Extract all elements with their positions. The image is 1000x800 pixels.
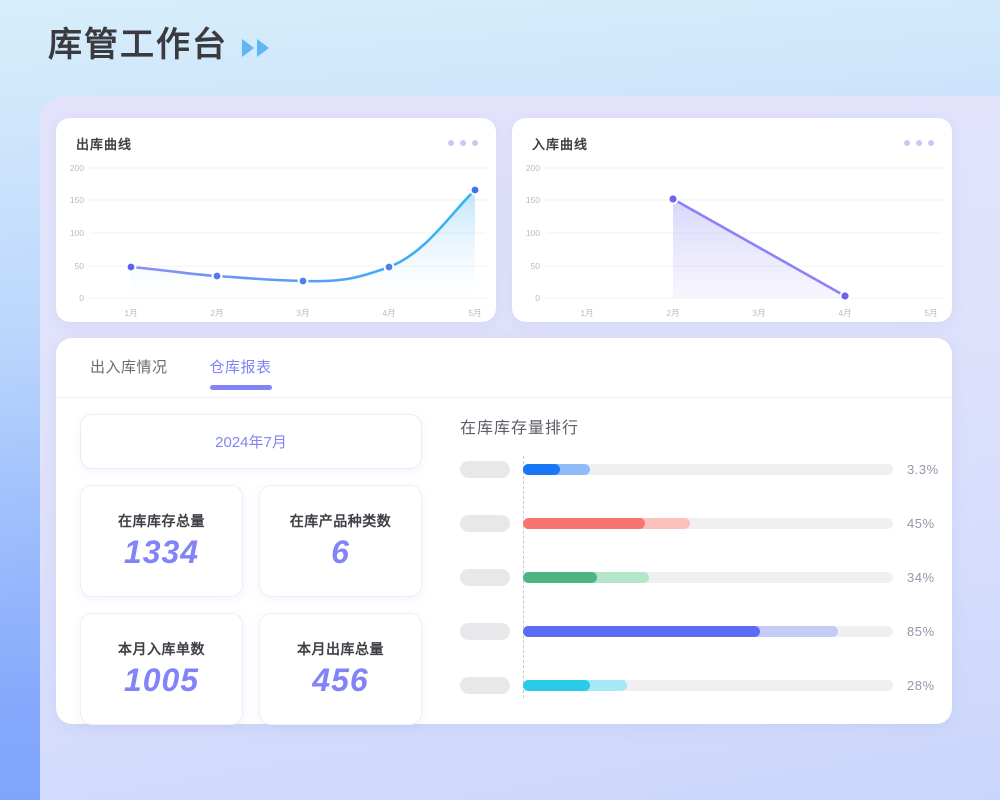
ranking-row[interactable]: 3.3% — [460, 460, 930, 478]
stat-card-outbound-total: 本月出库总量 456 — [259, 613, 422, 725]
ranking-bar-track — [523, 572, 893, 583]
ranking-percent: 34% — [907, 570, 935, 585]
ranking-row[interactable]: 85% — [460, 622, 930, 640]
svg-text:200: 200 — [526, 163, 540, 173]
ranking-bar-fill — [523, 680, 590, 691]
ranking-bar-fill — [523, 626, 760, 637]
ranking-row[interactable]: 28% — [460, 676, 930, 694]
outbound-chart-card: 出库曲线 — [56, 118, 496, 322]
outbound-chart-plot: 200 150 100 50 0 1月 2月 3月 — [56, 158, 496, 322]
stat-label: 本月入库单数 — [118, 639, 205, 659]
inbound-chart-title: 入库曲线 — [532, 134, 588, 153]
page-header: 库管工作台 — [48, 28, 269, 62]
tab-warehouse-report[interactable]: 仓库报表 — [210, 347, 272, 389]
ranking-percent: 45% — [907, 516, 935, 531]
svg-text:150: 150 — [526, 195, 540, 205]
svg-text:3月: 3月 — [296, 308, 309, 318]
svg-text:2月: 2月 — [210, 308, 223, 318]
more-dots-icon[interactable] — [448, 140, 478, 146]
inbound-chart-card: 入库曲线 200 150 100 — [512, 118, 952, 322]
app-shell: 出库曲线 — [40, 96, 1000, 800]
svg-text:50: 50 — [531, 261, 541, 271]
stat-label: 本月出库总量 — [297, 639, 384, 659]
svg-text:1月: 1月 — [580, 308, 593, 318]
stats-column: 2024年7月 在库库存总量 1334 在库产品种类数 6 本月入库单数 100… — [80, 414, 422, 725]
ranking-column: 在库库存量排行 3.3% 45% — [460, 414, 930, 694]
ranking-row-label — [460, 569, 510, 586]
stat-label: 在库库存总量 — [118, 511, 205, 531]
stat-card-product-types: 在库产品种类数 6 — [259, 485, 422, 597]
ranking-bar-fill — [523, 518, 645, 529]
ranking-bar-track — [523, 680, 893, 691]
ranking-row-label — [460, 515, 510, 532]
page-title: 库管工作台 — [48, 28, 228, 62]
svg-text:5月: 5月 — [468, 308, 481, 318]
svg-text:0: 0 — [79, 293, 84, 303]
ranking-percent: 3.3% — [907, 462, 939, 477]
ranking-bar-fill — [523, 572, 597, 583]
svg-text:150: 150 — [70, 195, 84, 205]
stat-value: 456 — [312, 663, 368, 698]
svg-text:5月: 5月 — [924, 308, 937, 318]
ranking-percent: 85% — [907, 624, 935, 639]
ranking-row[interactable]: 34% — [460, 568, 930, 586]
ranking-bar-track — [523, 626, 893, 637]
svg-text:100: 100 — [526, 228, 540, 238]
svg-text:2月: 2月 — [666, 308, 679, 318]
tab-inbound-outbound[interactable]: 出入库情况 — [90, 347, 168, 389]
inbound-chart-plot: 200 150 100 50 0 1月 2月 3月 4月 5月 — [512, 158, 952, 322]
date-selector[interactable]: 2024年7月 — [80, 414, 422, 469]
ranking-row[interactable]: 45% — [460, 514, 930, 532]
svg-text:3月: 3月 — [752, 308, 765, 318]
stat-label: 在库产品种类数 — [290, 511, 392, 531]
ranking-bar-fill — [523, 464, 560, 475]
ranking-bar-track — [523, 518, 893, 529]
ranking-list: 3.3% 45% 34% — [460, 460, 930, 694]
ranking-bar-track — [523, 464, 893, 475]
double-chevron-right-icon — [242, 39, 269, 57]
stat-card-inbound-orders: 本月入库单数 1005 — [80, 613, 243, 725]
stat-value: 1334 — [124, 535, 199, 570]
svg-text:4月: 4月 — [382, 308, 395, 318]
svg-text:50: 50 — [75, 261, 85, 271]
svg-text:0: 0 — [535, 293, 540, 303]
ranking-row-label — [460, 623, 510, 640]
ranking-row-label — [460, 677, 510, 694]
outbound-chart-title: 出库曲线 — [76, 134, 132, 153]
svg-text:200: 200 — [70, 163, 84, 173]
stat-value: 6 — [331, 535, 350, 570]
svg-text:4月: 4月 — [838, 308, 851, 318]
ranking-row-label — [460, 461, 510, 478]
stat-value: 1005 — [124, 663, 199, 698]
tab-bar: 出入库情况 仓库报表 — [56, 338, 952, 398]
svg-text:100: 100 — [70, 228, 84, 238]
stat-card-total-stock: 在库库存总量 1334 — [80, 485, 243, 597]
svg-text:1月: 1月 — [124, 308, 137, 318]
ranking-title: 在库库存量排行 — [460, 414, 930, 438]
report-panel: 出入库情况 仓库报表 2024年7月 在库库存总量 1334 在库产品种类数 6… — [56, 338, 952, 724]
ranking-percent: 28% — [907, 678, 935, 693]
stat-grid: 在库库存总量 1334 在库产品种类数 6 本月入库单数 1005 本月出库总量… — [80, 485, 422, 725]
more-dots-icon[interactable] — [904, 140, 934, 146]
